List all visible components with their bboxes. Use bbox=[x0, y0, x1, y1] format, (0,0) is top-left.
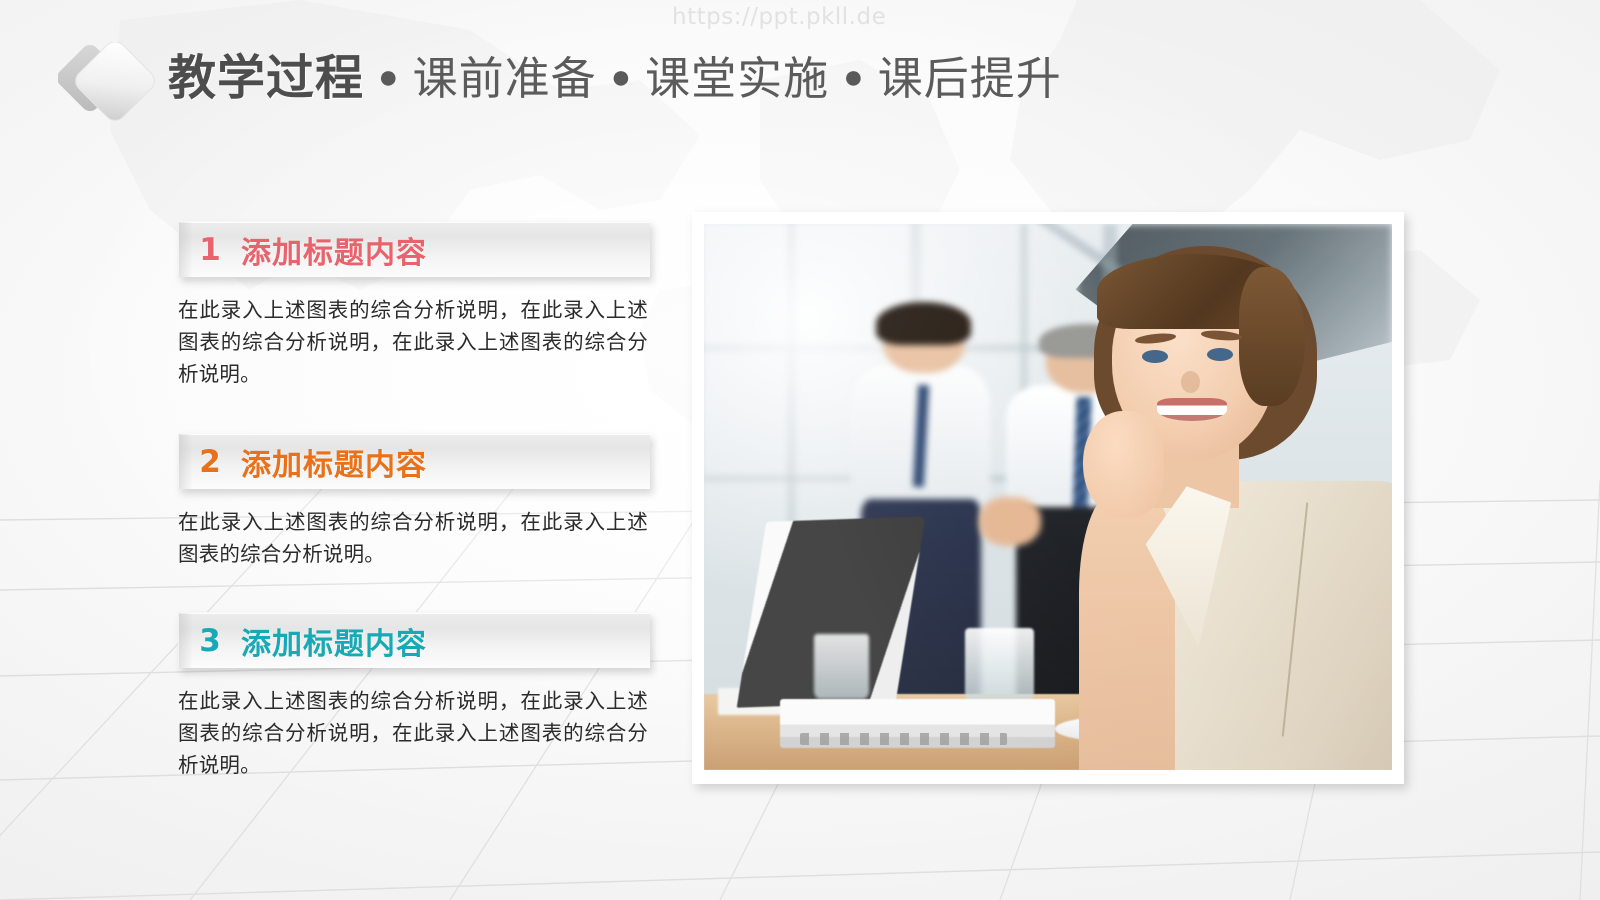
block-3-number: 3 bbox=[179, 623, 241, 659]
foreground-woman bbox=[1034, 235, 1392, 770]
office-scene-photo bbox=[704, 224, 1392, 770]
block-1-number: 1 bbox=[179, 232, 241, 268]
content-block-1: 1 添加标题内容 在此录入上述图表的综合分析说明，在此录入上述图表的综合分析说明… bbox=[178, 221, 650, 391]
block-1-title: 添加标题内容 bbox=[241, 228, 427, 272]
content-block-2: 2 添加标题内容 在此录入上述图表的综合分析说明，在此录入上述图表的综合分析说明… bbox=[178, 433, 650, 571]
title-separator-3: ● bbox=[829, 58, 878, 96]
slide-header: 教学过程●课前准备●课堂实施●课后提升 bbox=[0, 0, 1600, 170]
water-glass-left bbox=[814, 634, 869, 700]
content-block-3: 3 添加标题内容 在此录入上述图表的综合分析说明，在此录入上述图表的综合分析说明… bbox=[178, 612, 650, 782]
handshake bbox=[979, 497, 1041, 546]
block-2-body: 在此录入上述图表的综合分析说明，在此录入上述图表的综合分析说明。 bbox=[178, 507, 648, 571]
page-title: 教学过程●课前准备●课堂实施●课后提升 bbox=[168, 55, 1062, 103]
block-3-title-bar[interactable]: 3 添加标题内容 bbox=[178, 612, 650, 668]
block-3-body: 在此录入上述图表的综合分析说明，在此录入上述图表的综合分析说明，在此录入上述图表… bbox=[178, 686, 648, 782]
block-1-title-bar[interactable]: 1 添加标题内容 bbox=[178, 221, 650, 277]
title-separator-2: ● bbox=[597, 58, 646, 96]
water-glass-right bbox=[965, 628, 1034, 704]
block-2-title-bar[interactable]: 2 添加标题内容 bbox=[178, 433, 650, 489]
page-title-part-2: 课堂实施 bbox=[645, 53, 829, 104]
double-diamond-logo-icon bbox=[58, 42, 166, 150]
laptop-ports bbox=[800, 733, 1006, 745]
block-3-title: 添加标题内容 bbox=[241, 619, 427, 663]
page-title-part-3: 课后提升 bbox=[878, 53, 1062, 104]
page-title-part-1: 课前准备 bbox=[413, 53, 597, 104]
block-2-title: 添加标题内容 bbox=[241, 440, 427, 484]
block-2-number: 2 bbox=[179, 444, 241, 480]
page-title-main: 教学过程 bbox=[168, 52, 364, 105]
slide-canvas: https://ppt.pkll.de bbox=[0, 0, 1600, 900]
title-separator-1: ● bbox=[364, 58, 413, 96]
block-1-body: 在此录入上述图表的综合分析说明，在此录入上述图表的综合分析说明，在此录入上述图表… bbox=[178, 295, 648, 391]
photo-frame bbox=[692, 212, 1404, 784]
